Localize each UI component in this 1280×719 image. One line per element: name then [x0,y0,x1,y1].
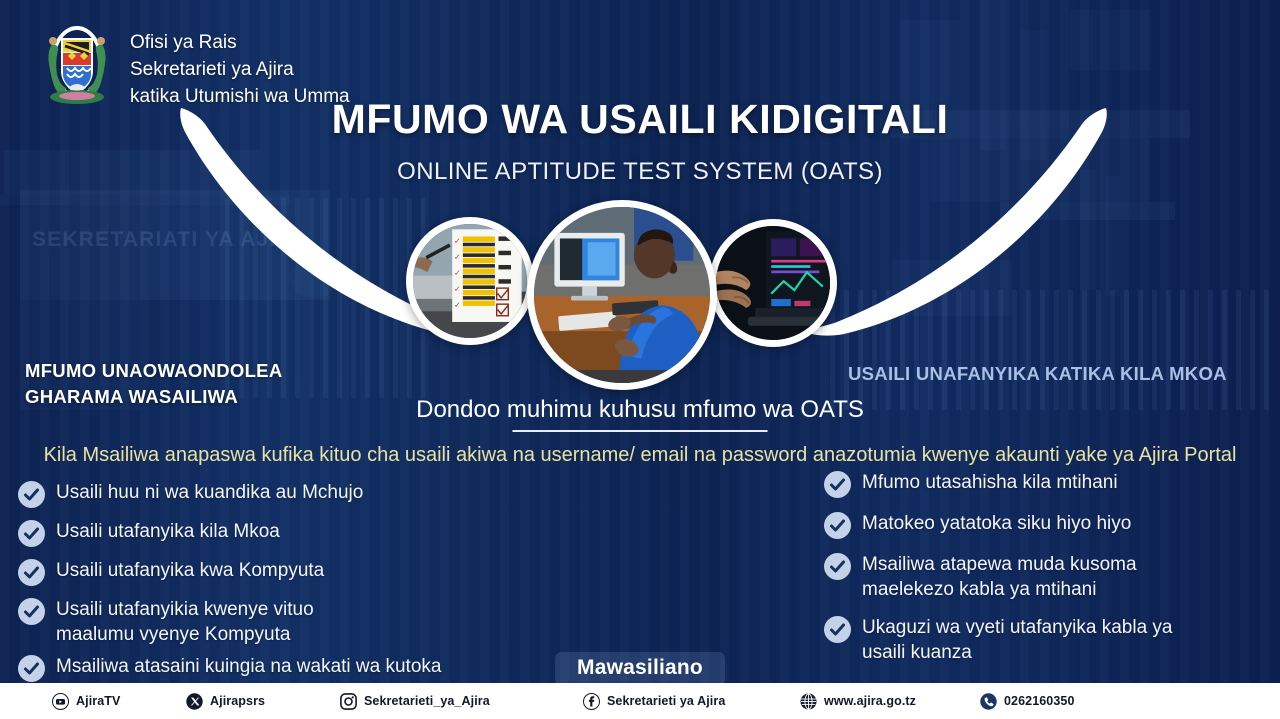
list-item: Usaili utafanyikia kwenye vituo maalumu … [18,597,488,647]
contact-label: www.ajira.go.tz [824,694,916,708]
check-circle-icon [824,553,851,580]
list-item-label: Usaili huu ni wa kuandika au Mchujo [56,480,363,505]
check-circle-icon [18,481,45,508]
list-item-label: Matokeo yatatoka siku hiyo hiyo [862,511,1131,536]
contact-youtube[interactable]: AjiraTV [52,693,120,710]
heading-right: USAILI UNAFANYIKA KATIKA KILA MKOA [848,361,1258,387]
check-circle-icon [18,655,45,682]
check-circle-icon [18,520,45,547]
list-item: Usaili utafanyika kila Mkoa [18,519,488,547]
bullet-list-left: Usaili huu ni wa kuandika au Mchujo Usai… [18,480,488,693]
list-item-label: Usaili utafanyika kila Mkoa [56,519,280,544]
yellow-instruction-note: Kila Msailiwa anapaswa kufika kituo cha … [0,440,1280,470]
page-title: MFUMO WA USAILI KIDIGITALI [0,96,1280,143]
contact-label: Sekretarieti_ya_Ajira [364,694,490,708]
svg-text:✓: ✓ [454,269,461,278]
contact-phone[interactable]: 0262160350 [980,693,1075,710]
contact-website[interactable]: www.ajira.go.tz [800,693,916,710]
list-item: Usaili utafanyika kwa Kompyuta [18,558,488,586]
contact-label: AjiraTV [76,694,120,708]
list-item: Ukaguzi wa vyeti utafanyika kabla ya usa… [824,615,1244,665]
poster-root: SEKRETARIATI YA AJIRA [0,0,1280,719]
svg-text:✓: ✓ [454,253,461,262]
globe-icon [800,693,817,710]
list-item-label: Msailiwa atasaini kuingia na wakati wa k… [56,654,441,679]
dondoo-underline [513,430,768,432]
org-line-2: Sekretarieti ya Ajira [130,57,350,84]
org-line-1: Ofisi ya Rais [130,30,350,57]
check-circle-icon [824,512,851,539]
dondoo-title: Dondoo muhimu kuhusu mfumo wa OATS [0,396,1280,424]
youtube-icon [52,693,69,710]
check-circle-icon [824,471,851,498]
contact-label: Ajirapsrs [210,694,265,708]
footer-contact-bar: AjiraTV Ajirapsrs Sekretarieti_ya_Ajira … [0,683,1280,719]
contact-x-twitter[interactable]: Ajirapsrs [186,693,265,710]
page-subtitle: ONLINE APTITUDE TEST SYSTEM (OATS) [0,158,1280,186]
photo-checklist-laptop: ✓✓ ✓✓✓ [406,217,534,345]
list-item-label: Mfumo utasahisha kila mtihani [862,470,1118,495]
check-circle-icon [18,559,45,586]
x-twitter-icon [186,693,203,710]
list-item: Matokeo yatatoka siku hiyo hiyo [824,511,1244,539]
list-item: Msailiwa atasaini kuingia na wakati wa k… [18,654,488,682]
contact-instagram[interactable]: Sekretarieti_ya_Ajira [340,693,490,710]
list-item-label: Msailiwa atapewa muda kusoma maelekezo k… [862,552,1187,602]
contacts-badge: Mawasiliano [555,652,725,686]
svg-text:✓: ✓ [454,301,461,310]
contact-facebook[interactable]: Sekretarieti ya Ajira [583,693,725,710]
check-circle-icon [18,598,45,625]
photo-man-at-desktop [527,200,717,390]
background-blocks-top-right [860,0,1280,180]
list-item: Mfumo utasahisha kila mtihani [824,470,1244,498]
instagram-icon [340,693,357,710]
svg-text:✓: ✓ [454,285,461,294]
list-item: Usaili huu ni wa kuandika au Mchujo [18,480,488,508]
photo-hands-dark-laptop [709,219,837,347]
svg-text:✓: ✓ [454,237,461,246]
contact-label: Sekretarieti ya Ajira [607,694,725,708]
check-circle-icon [824,616,851,643]
list-item-label: Usaili utafanyika kwa Kompyuta [56,558,324,583]
facebook-icon [583,693,600,710]
list-item: Msailiwa atapewa muda kusoma maelekezo k… [824,552,1244,602]
phone-icon [980,693,997,710]
bullet-list-right: Mfumo utasahisha kila mtihani Matokeo ya… [824,470,1244,678]
contact-label: 0262160350 [1004,694,1075,708]
tanzania-coat-of-arms-icon [38,16,116,104]
list-item-label: Ukaguzi wa vyeti utafanyika kabla ya usa… [862,615,1192,665]
list-item-label: Usaili utafanyikia kwenye vituo maalumu … [56,597,356,647]
